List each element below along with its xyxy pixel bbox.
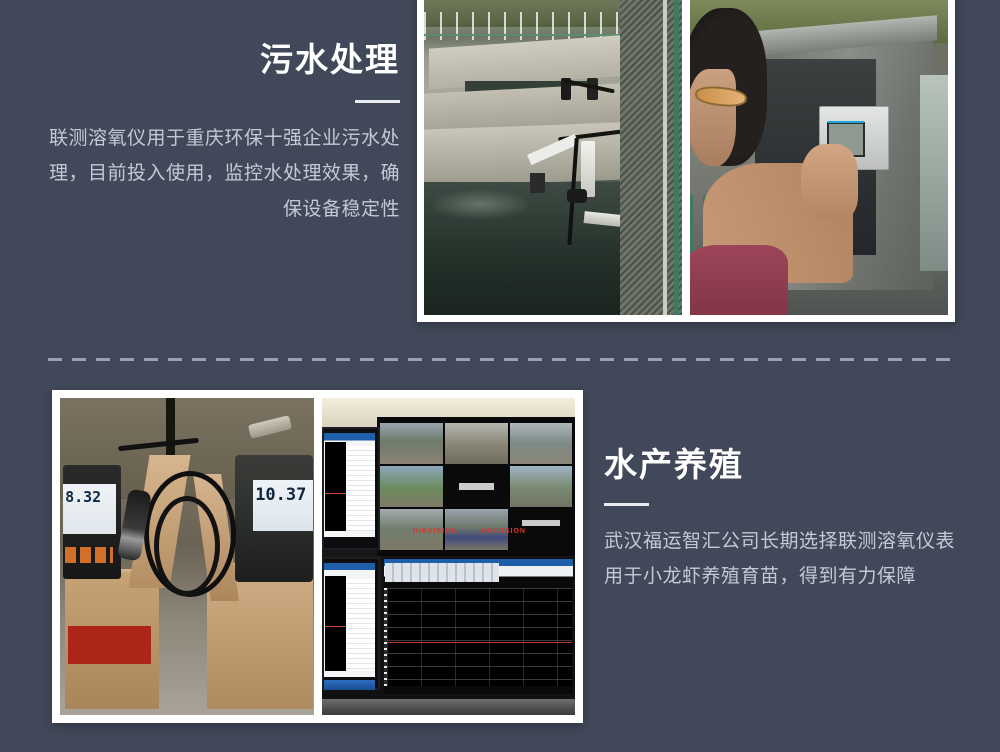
aquaculture-text-block: 水产养殖 武汉福运智汇公司长期选择联测溶氧仪表用于小龙虾养殖育苗，得到有力保障 [604, 447, 960, 595]
right-meter-reading: 10.37 [255, 487, 313, 528]
aquaculture-title-rule [604, 503, 649, 506]
left-meter-reading: 8.32 [65, 490, 116, 528]
wastewater-section-title: 污水处理 [40, 42, 400, 78]
hikvision-logo-left: HIKVISION [413, 528, 458, 535]
wastewater-section-body: 联测溶氧仪用于重庆环保十强企业污水处理，目前投入使用，监控水处理效果，确保设备稳… [40, 121, 400, 226]
monitoring-workstation-photo: HIKVISION HIKVISION [322, 398, 576, 715]
technician-cabinet-photo [690, 0, 948, 315]
product-detail-page: 污水处理 联测溶氧仪用于重庆环保十强企业污水处理，目前投入使用，监控水处理效果，… [0, 0, 1000, 752]
aquaculture-photo-card: 8.32 10.37 HIKVISION HIKVISION [52, 390, 583, 723]
wastewater-basin-photo [424, 0, 682, 315]
aquaculture-section-title: 水产养殖 [604, 447, 960, 483]
wastewater-title-rule [355, 100, 400, 103]
wastewater-photo-card [417, 0, 955, 322]
aquaculture-section-body: 武汉福运智汇公司长期选择联测溶氧仪表用于小龙虾养殖育苗，得到有力保障 [604, 524, 960, 594]
meters-in-boxes-photo: 8.32 10.37 [60, 398, 314, 715]
wastewater-text-block: 污水处理 联测溶氧仪用于重庆环保十强企业污水处理，目前投入使用，监控水处理效果，… [40, 42, 400, 227]
section-divider [48, 358, 952, 361]
hikvision-logo-right: HIKVISION [481, 528, 526, 535]
